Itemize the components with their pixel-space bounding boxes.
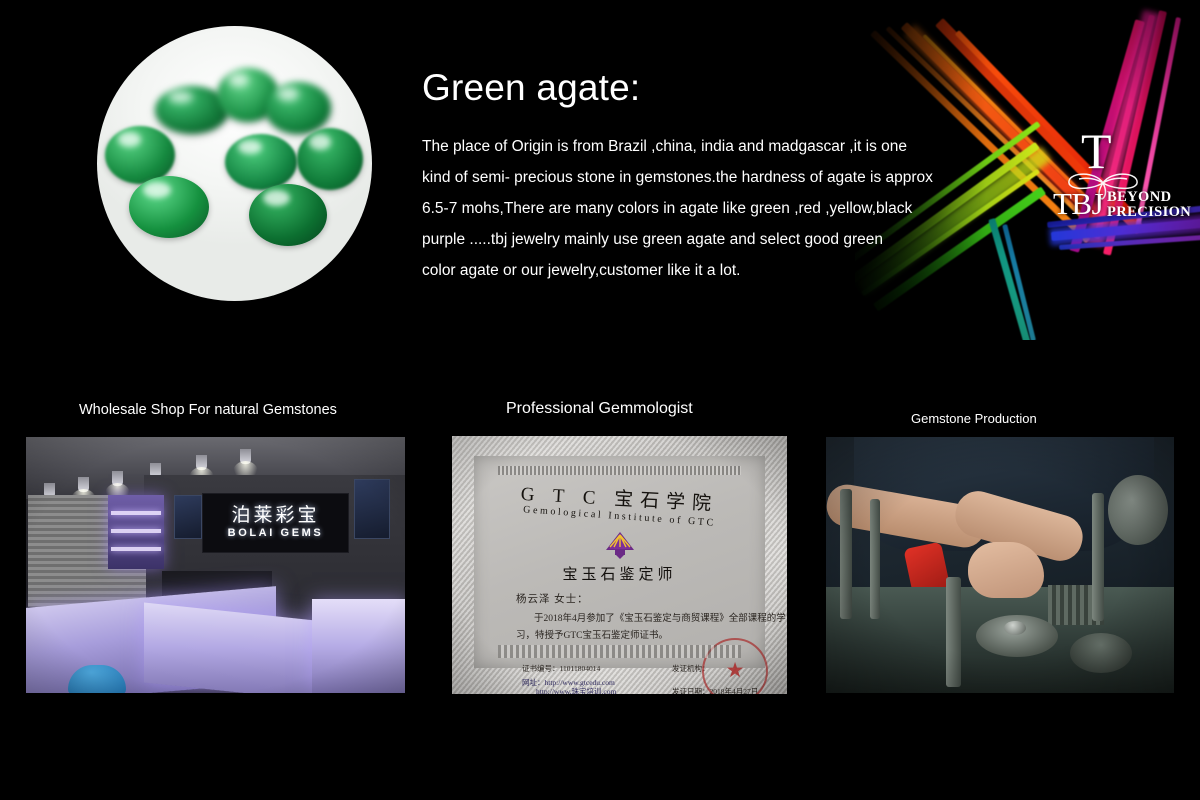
product-description-banner: Green agate: The place of Origin is from… <box>0 0 1200 800</box>
seal-star-icon: ★ <box>726 660 745 681</box>
description-line: purple .....tbj jewelry mainly use green… <box>422 224 982 255</box>
wall-poster <box>354 479 390 539</box>
certificate-top-border <box>498 466 741 475</box>
description-line: The place of Origin is from Brazil ,chin… <box>422 131 982 162</box>
ceiling-spotlight <box>196 455 207 470</box>
caption-wholesale-shop: Wholesale Shop For natural Gemstones <box>79 402 337 418</box>
wall-poster <box>174 495 202 539</box>
logo-tagline-line2: PRECISION <box>1107 205 1191 220</box>
shop-interior-photo: 泊莱彩宝 BOLAI GEMS <box>26 437 405 693</box>
page-title: Green agate: <box>422 68 982 109</box>
logo-tagline: BEYOND PRECISION <box>1107 190 1191 220</box>
description-text-block: Green agate: The place of Origin is from… <box>422 68 982 286</box>
ceiling-spotlight <box>112 471 123 486</box>
lit-display-cabinet <box>108 495 164 569</box>
description-line: color agate or our jewelry,customer like… <box>422 255 982 286</box>
certificate-body-line1: 于2018年4月参加了《宝玉石鉴定与商贸课程》全部课程的学 <box>534 610 786 624</box>
description-line: kind of semi- precious stone in gemstone… <box>422 162 982 193</box>
certificate-body-line2: 习，特授予GTC宝玉石鉴定师证书。 <box>516 627 668 641</box>
display-case <box>312 599 405 693</box>
gemstone-production-photo <box>826 437 1174 693</box>
ceiling-spotlight <box>78 477 89 492</box>
shop-sign-english: BOLAI GEMS <box>203 527 348 539</box>
certificate-subtitle: 宝玉石鉴定师 <box>474 563 765 584</box>
gtc-emblem-icon <box>603 530 637 560</box>
certificate-inner-panel: G T C 宝石学院 Gemological Institute of GTC … <box>474 456 765 668</box>
shop-signboard: 泊莱彩宝 BOLAI GEMS <box>202 493 349 553</box>
logo-tagline-line1: BEYOND <box>1107 190 1191 205</box>
caption-gemstone-production: Gemstone Production <box>911 411 1037 426</box>
description-line: 6.5-7 mohs,There are many colors in agat… <box>422 193 982 224</box>
certificate-number: 证书编号：11011804014 <box>522 663 600 674</box>
shop-sign-chinese: 泊莱彩宝 <box>203 500 348 527</box>
description-paragraph: The place of Origin is from Brazil ,chin… <box>422 131 982 286</box>
logo-wordmark: TBJ <box>1053 188 1103 219</box>
green-agate-photo <box>97 26 372 301</box>
hero-section: Green agate: The place of Origin is from… <box>0 0 1200 380</box>
certificate-url-secondary: http://www.珠宝培训.com <box>536 686 616 694</box>
caption-professional-gemmologist: Professional Gemmologist <box>506 400 693 418</box>
gemmologist-certificate-photo: G T C 宝石学院 Gemological Institute of GTC … <box>452 436 787 694</box>
tbj-brand-logo: T TBJ BEYOND PRECISION <box>1055 130 1173 228</box>
certificate-recipient-name: 杨云泽 女士： <box>516 591 589 606</box>
photo-vignette <box>826 437 1174 693</box>
certificate-bottom-border <box>498 645 741 658</box>
ceiling-spotlight <box>240 449 251 464</box>
